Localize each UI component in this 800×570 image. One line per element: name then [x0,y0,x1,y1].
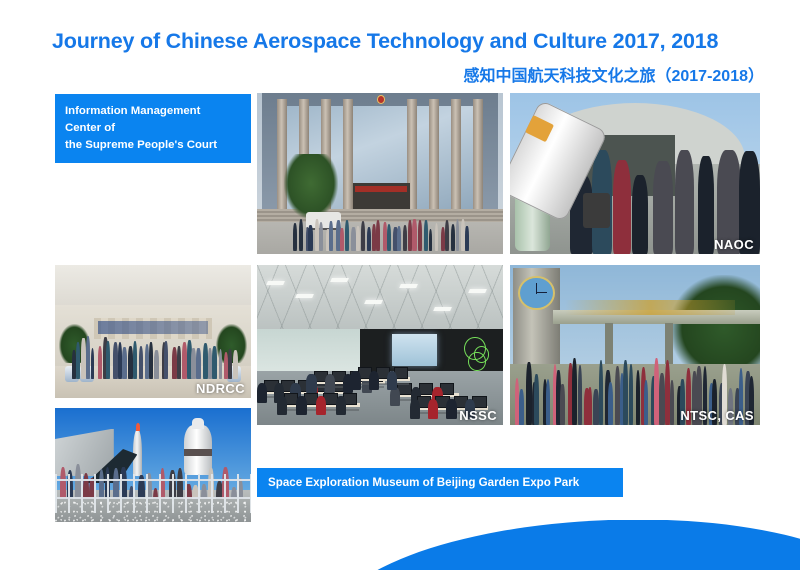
person [361,221,365,251]
person [128,346,133,379]
ceiling-light [364,300,383,304]
person [177,346,181,379]
capsule-top-module [192,418,204,428]
bottom-wave-shape [327,520,800,570]
person [154,350,159,379]
person [233,350,238,380]
person [350,371,360,390]
bottom-wave-decoration [0,520,800,570]
person [546,379,551,425]
person [308,225,313,251]
photo-space-exploration-museum [55,408,251,522]
court-tree [284,154,338,218]
person [277,396,287,415]
person [397,226,401,250]
person [81,338,85,380]
person [519,389,524,425]
ndrcc-group-of-people [71,334,240,379]
person [465,226,469,251]
person [698,156,714,254]
person [319,222,323,250]
person [345,220,349,251]
ceiling-light [295,294,314,298]
person [139,346,143,379]
person [106,341,110,379]
court-column [429,99,439,218]
lobby-sign [98,321,208,334]
photo-supreme-peoples-court [257,93,503,254]
person [122,347,127,379]
projection-screen [392,334,436,366]
gate-institute-name-sign [565,300,735,314]
court-column [451,99,461,218]
person [149,342,153,380]
person [91,348,95,379]
person [636,370,641,425]
organization-callout-box: Information Management Center of the Sup… [55,94,251,163]
photo-caption-naoc: NAOC [714,237,754,252]
person [76,342,80,379]
person [172,347,177,380]
court-column [343,99,353,218]
naoc-scene [510,93,760,254]
person [257,383,267,402]
person [336,396,346,415]
rocket-nose-cone [136,423,140,431]
ceiling-light [433,307,452,311]
person [446,399,456,418]
person [293,223,297,251]
ceiling-light [330,278,349,282]
person [325,374,335,393]
person [429,229,432,251]
person [451,224,456,251]
person [599,360,603,425]
photo-ndrcc: NDRCC [55,265,251,398]
photo-ntsc-cas: NTSC, CAS [510,265,760,425]
photo-caption-ndrcc: NDRCC [196,381,245,396]
person [613,160,631,254]
person [296,396,306,415]
person [424,220,428,250]
court-column [473,99,483,218]
nssc-scene [257,265,503,425]
radar-ring [468,352,485,371]
court-red-banner [355,186,407,192]
fence-rail [55,497,251,499]
clock-face-icon [520,278,553,308]
page-title: Journey of Chinese Aerospace Technology … [52,29,764,54]
national-emblem-icon [377,95,385,104]
person [534,374,539,425]
organization-line-3: the Supreme People's Court [65,137,251,154]
person [428,399,438,418]
telescope-focuser [583,193,611,228]
person [445,220,449,251]
person [418,220,422,251]
person [588,387,592,425]
person [623,360,628,425]
court-scene [257,93,503,254]
ntsc-scene [510,265,760,425]
person [387,224,392,251]
person [412,219,416,251]
person [665,360,670,425]
person [340,228,343,251]
person [653,161,672,254]
ceiling-light [266,281,285,285]
person [182,342,187,380]
person [164,341,168,380]
ndrcc-scene [55,265,251,398]
person [306,374,316,393]
person [608,382,613,425]
person [316,396,326,415]
person [228,349,232,380]
museum-scene [55,408,251,522]
person [367,227,371,251]
lobby-ceiling [55,265,251,309]
person [560,384,564,425]
organization-line-2: Center of [65,120,251,137]
person [670,380,674,425]
person [578,365,582,425]
person [629,364,633,425]
organization-line-1: Information Management [65,103,251,120]
radar-display [461,334,493,369]
person [456,219,460,251]
person [644,380,648,425]
person [675,150,694,254]
photo-nssc: NSSC [257,265,503,425]
person [86,336,90,379]
photo-caption-ntsc: NTSC, CAS [680,408,754,423]
person [408,220,412,251]
person [98,346,102,379]
person [356,226,360,251]
person [435,223,439,251]
person [403,225,407,250]
page-subtitle-chinese: 感知中国航天科技文化之旅（2017-2018） [52,62,764,86]
person [410,399,420,418]
person [376,220,380,250]
ceiling-light [399,284,418,288]
person [196,348,200,380]
photo-naoc: NAOC [510,93,760,254]
fence-rail [55,479,251,481]
person [299,219,303,251]
capsule-heat-shield-band [184,449,211,456]
person [572,358,577,425]
person [593,389,599,425]
person [632,175,648,254]
person [133,341,137,380]
person [219,349,223,380]
ceiling-light [468,289,487,293]
person [387,371,397,390]
photo-caption-nssc: NSSC [459,408,497,423]
person [329,221,333,251]
person [212,346,217,379]
person [351,227,355,250]
clock-hand-minute [536,292,547,293]
person [369,371,379,390]
museum-caption-box: Space Exploration Museum of Beijing Gard… [257,468,623,497]
court-group-of-people [294,217,471,251]
